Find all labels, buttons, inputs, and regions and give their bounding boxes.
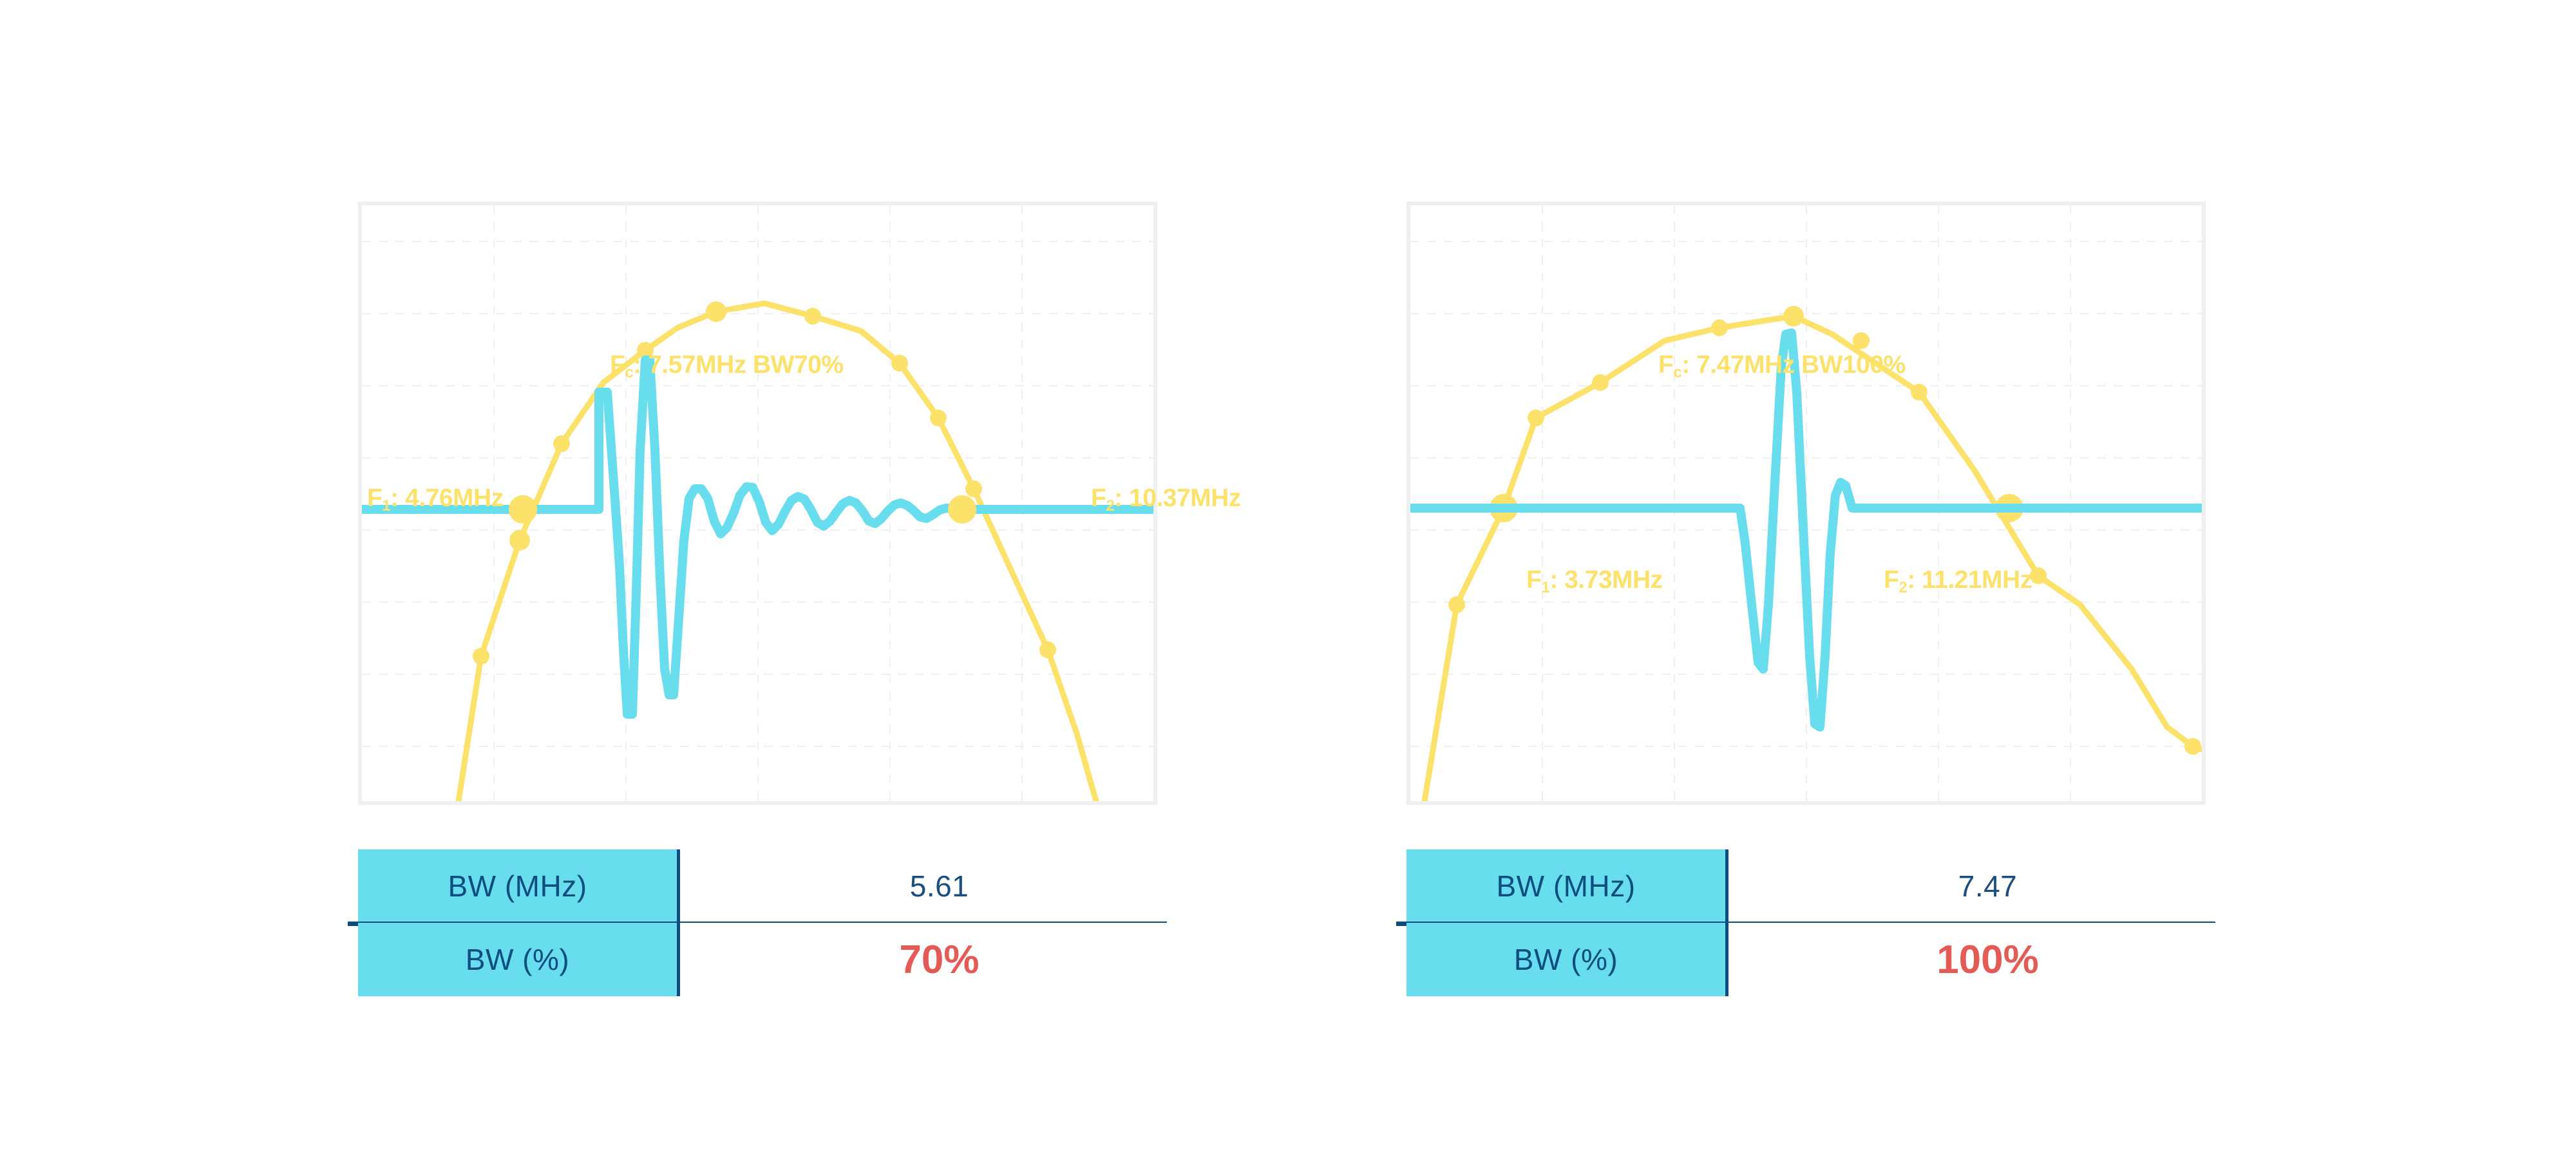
table-row: BW (%) 70% [358, 923, 1198, 996]
label-f2-sub-right: 2 [1899, 579, 1907, 596]
label-f2-prefix-right: F [1884, 566, 1899, 594]
bw-table-left: BW (MHz) 5.61 BW (%) 70% [358, 849, 1198, 996]
bw-pct-key-left: BW (%) [358, 923, 680, 996]
plot-inner-right [1410, 205, 2202, 801]
bw-mhz-value-right: 7.47 [1958, 869, 2018, 903]
label-fc-sub-left: c [625, 364, 633, 381]
pulse-curve-right [1410, 333, 2202, 727]
bw-pct-value-cell-right: 100% [1728, 923, 2247, 996]
label-f1-left: F1: 4.76MHz [367, 486, 504, 511]
label-fc-text-left: : 7.57MHz BW70% [633, 351, 843, 379]
label-f2-sub-left: 2 [1106, 497, 1114, 515]
label-fc-prefix-left: F [610, 351, 625, 379]
bandwidth-comparison-figure: Fc: 7.57MHz BW70% F1: 4.76MHz F2: 10.37M… [0, 0, 2576, 1154]
panel-right: Fc: 7.47MHz BW100% F1: 3.73MHz F2: 11.21… [1358, 0, 2452, 1154]
bw-mhz-key-right: BW (MHz) [1406, 849, 1728, 923]
table-row: BW (%) 100% [1406, 923, 2247, 996]
panel-left: Fc: 7.57MHz BW70% F1: 4.76MHz F2: 10.37M… [309, 0, 1404, 1154]
label-f2-text-right: : 11.21MHz [1907, 566, 2032, 594]
label-fc-left: Fc: 7.57MHz BW70% [610, 352, 844, 377]
label-f1-sub-right: 1 [1541, 579, 1549, 596]
table-row: BW (MHz) 7.47 [1406, 849, 2247, 923]
label-fc-prefix-right: F [1658, 351, 1673, 379]
label-f1-prefix-right: F [1526, 566, 1541, 594]
bw-pct-value-right: 100% [1937, 937, 2039, 983]
bw-mhz-value-cell-left: 5.61 [680, 849, 1198, 923]
plot-frame-left: Fc: 7.57MHz BW70% F1: 4.76MHz F2: 10.37M… [358, 202, 1157, 805]
label-f2-right: F2: 11.21MHz [1884, 567, 2032, 592]
label-fc-text-right: : 7.47MHz BW100% [1681, 351, 1905, 379]
label-f2-prefix-left: F [1091, 484, 1106, 512]
bw-pct-value-left: 70% [899, 937, 979, 983]
label-f1-prefix-left: F [367, 484, 382, 512]
label-f1-right: F1: 3.73MHz [1526, 567, 1663, 592]
label-f2-left: F2: 10.37MHz [1091, 486, 1241, 511]
plot-frame-right: Fc: 7.47MHz BW100% F1: 3.73MHz F2: 11.21… [1406, 202, 2206, 805]
label-fc-right: Fc: 7.47MHz BW100% [1658, 352, 1906, 377]
bw-mhz-key-left: BW (MHz) [358, 849, 680, 923]
bw-pct-value-cell-left: 70% [680, 923, 1198, 996]
label-f2-text-left: : 10.37MHz [1114, 484, 1241, 512]
label-f1-text-right: : 3.73MHz [1549, 566, 1662, 594]
bw-mhz-value-left: 5.61 [910, 869, 969, 903]
curves-right [1410, 205, 2202, 801]
label-f1-text-left: : 4.76MHz [390, 484, 503, 512]
label-f1-sub-left: 1 [382, 497, 390, 515]
label-fc-sub-right: c [1673, 364, 1681, 381]
table-row: BW (MHz) 5.61 [358, 849, 1198, 923]
spectrum-curve-right [1417, 316, 2202, 801]
bw-pct-key-right: BW (%) [1406, 923, 1728, 996]
bw-mhz-value-cell-right: 7.47 [1728, 849, 2247, 923]
bw-table-right: BW (MHz) 7.47 BW (%) 100% [1406, 849, 2247, 996]
